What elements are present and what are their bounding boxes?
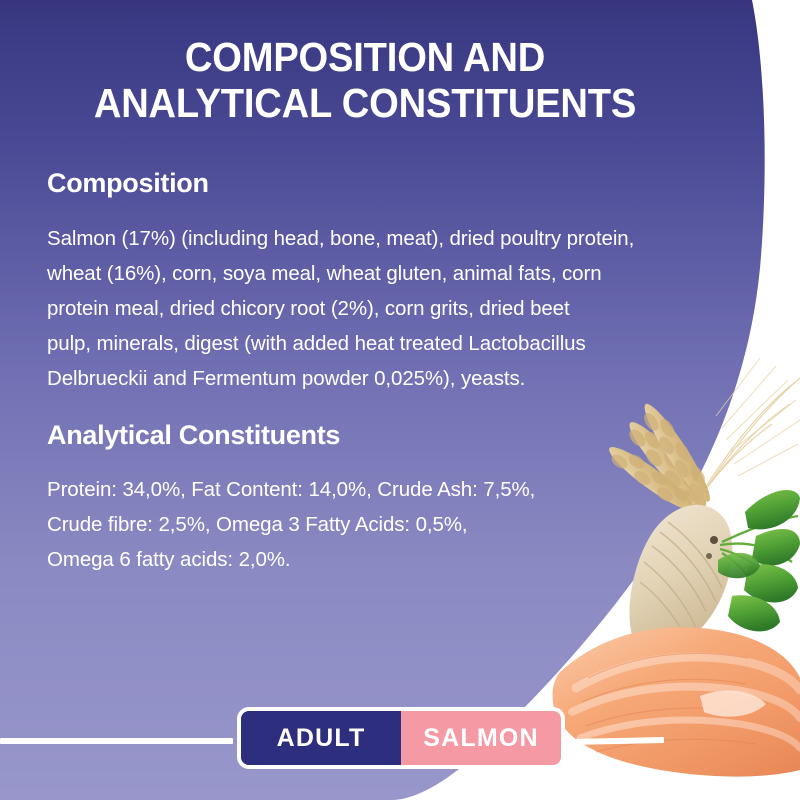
analytical-constituents-heading: Analytical Constituents [47, 420, 340, 450]
composition-line-5: Delbrueckii and Fermentum powder 0,025%)… [47, 361, 759, 396]
product-badge: ADULT SALMON [237, 707, 565, 769]
composition-line-2: wheat (16%), corn, soya meal, wheat glut… [47, 256, 759, 291]
composition-line-1: Salmon (17%) (including head, bone, meat… [47, 221, 759, 256]
composition-heading: Composition [47, 168, 209, 198]
analytical-constituents-text: Protein: 34,0%, Fat Content: 14,0%, Crud… [47, 472, 647, 577]
analytical-line-1: Protein: 34,0%, Fat Content: 14,0%, Crud… [47, 472, 647, 507]
badge-flavour: SALMON [401, 711, 561, 765]
page-title-line-2: ANALYTICAL CONSTITUENTS [26, 80, 705, 126]
divider-rule-right [568, 737, 664, 745]
analytical-line-2: Crude fibre: 2,5%, Omega 3 Fatty Acids: … [47, 507, 647, 542]
composition-line-4: pulp, minerals, digest (with added heat … [47, 326, 759, 361]
badge-life-stage: ADULT [241, 711, 401, 765]
analytical-line-3: Omega 6 fatty acids: 2,0%. [47, 542, 647, 577]
nutrition-panel: COMPOSITION AND ANALYTICAL CONSTITUENTS … [0, 0, 800, 800]
page-title-line-1: COMPOSITION AND [26, 34, 705, 80]
composition-text: Salmon (17%) (including head, bone, meat… [47, 221, 759, 396]
page-title: COMPOSITION AND ANALYTICAL CONSTITUENTS [26, 34, 705, 126]
composition-line-3: protein meal, dried chicory root (2%), c… [47, 291, 759, 326]
divider-rule-left [0, 738, 233, 744]
